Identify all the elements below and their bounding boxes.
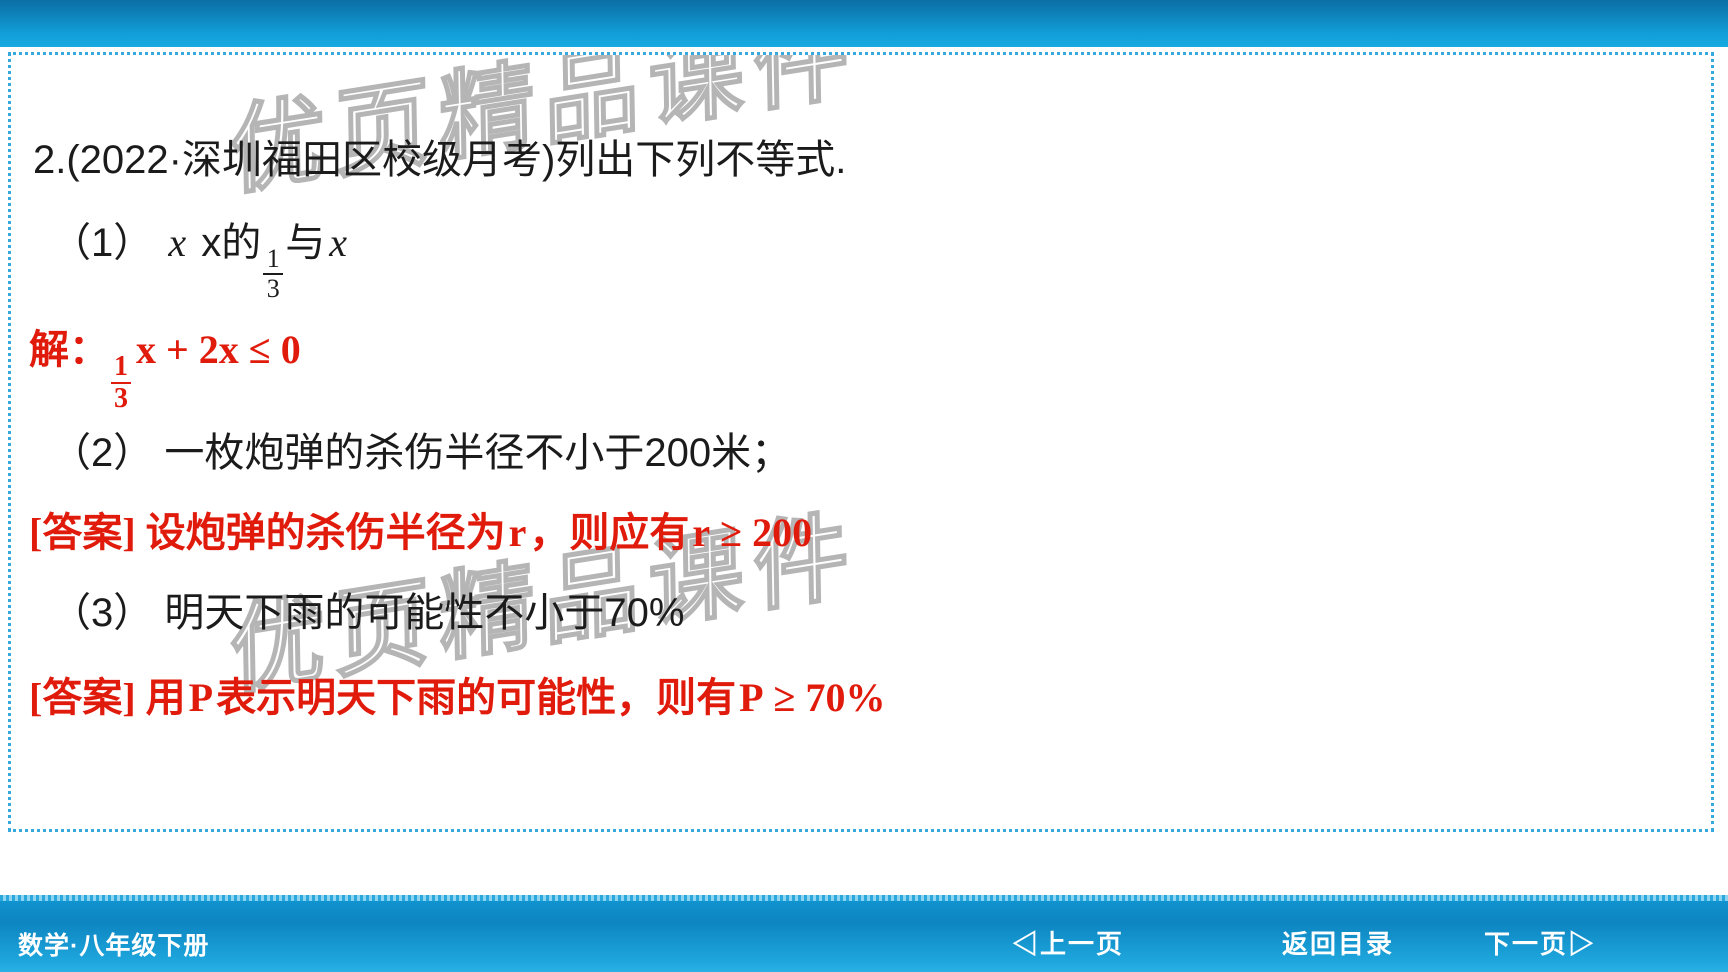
prev-page-button[interactable]: ◁上一页	[1012, 924, 1124, 961]
sub-question-3-text: 明天下雨的可能性不小于70%	[164, 591, 684, 635]
sub-question-2-text: 一枚炮弹的杀伤半径不小于200米；	[164, 431, 791, 475]
sub-question-3-label: （3）	[51, 591, 153, 635]
answer-2-relation: ≥	[713, 510, 749, 555]
fraction-numerator: 1	[111, 353, 131, 382]
answer-3-relation: ≥	[767, 675, 803, 720]
top-decorative-bar	[0, 0, 1728, 47]
answer-1: 解：13x+ 2x ≤ 0	[29, 330, 308, 414]
answer-3-variable-2: P	[736, 675, 766, 720]
back-to-contents-button[interactable]: 返回目录	[1282, 924, 1394, 961]
sub-question-1: （1） x x的13与x	[51, 223, 351, 303]
answer-1-prefix: 解：	[29, 327, 109, 372]
answer-3-variable: P	[186, 675, 216, 720]
answer-2-value: 200	[749, 510, 815, 555]
answer-3-part1: 用	[146, 675, 186, 720]
sub-question-2: （2） 一枚炮弹的杀伤半径不小于200米；	[51, 433, 791, 473]
sub-question-1-var: x	[164, 220, 190, 265]
answer-2-prefix: [答案]	[29, 510, 136, 555]
sub-question-2-label: （2）	[51, 431, 153, 475]
fraction-numerator: 1	[264, 246, 283, 273]
sub-question-1-label: （1）	[51, 221, 153, 265]
footer-bar	[0, 901, 1728, 972]
slide-content: 优页精品课件 优页精品课件 2.(2022·深圳福田区校级月考)列出下列不等式.…	[11, 55, 1711, 829]
slide-frame: 优页精品课件 优页精品课件 2.(2022·深圳福田区校级月考)列出下列不等式.…	[8, 52, 1714, 832]
fraction-denominator: 3	[111, 385, 131, 414]
answer-1-rest: + 2x ≤ 0	[159, 327, 308, 372]
sub-question-1-text-after: 与	[285, 221, 325, 265]
answer-3-value: 70%	[802, 675, 888, 720]
answer-2: [答案] 设炮弹的杀伤半径为r，则应有r≥200	[29, 513, 815, 553]
answer-3-prefix: [答案]	[29, 675, 136, 720]
answer-1-fraction: 13	[111, 353, 131, 414]
answer-2-part1: 设炮弹的杀伤半径为	[146, 510, 506, 555]
sub-question-1-text-before: x的	[201, 221, 261, 265]
sub-question-1-fraction: 13	[263, 246, 283, 303]
answer-2-variable-2: r	[689, 510, 713, 555]
question-stem: 2.(2022·深圳福田区校级月考)列出下列不等式.	[33, 140, 846, 180]
answer-1-variable: x	[133, 327, 159, 372]
watermark-top: 优页精品课件	[229, 52, 860, 214]
footer-book-title: 数学·八年级下册	[18, 926, 209, 962]
answer-3-part2: 表示明天下雨的可能性，则有	[216, 675, 736, 720]
question-stem-text: 2.(2022·深圳福田区校级月考)列出下列不等式.	[33, 138, 846, 182]
answer-2-variable: r	[506, 510, 530, 555]
sub-question-1-var2: x	[325, 220, 351, 265]
fraction-denominator: 3	[264, 276, 283, 303]
answer-3: [答案] 用P表示明天下雨的可能性，则有P≥70%	[29, 678, 888, 718]
sub-question-3: （3） 明天下雨的可能性不小于70%	[51, 593, 684, 633]
answer-2-part2: ，则应有	[529, 510, 689, 555]
next-page-button[interactable]: 下一页▷	[1484, 924, 1596, 961]
